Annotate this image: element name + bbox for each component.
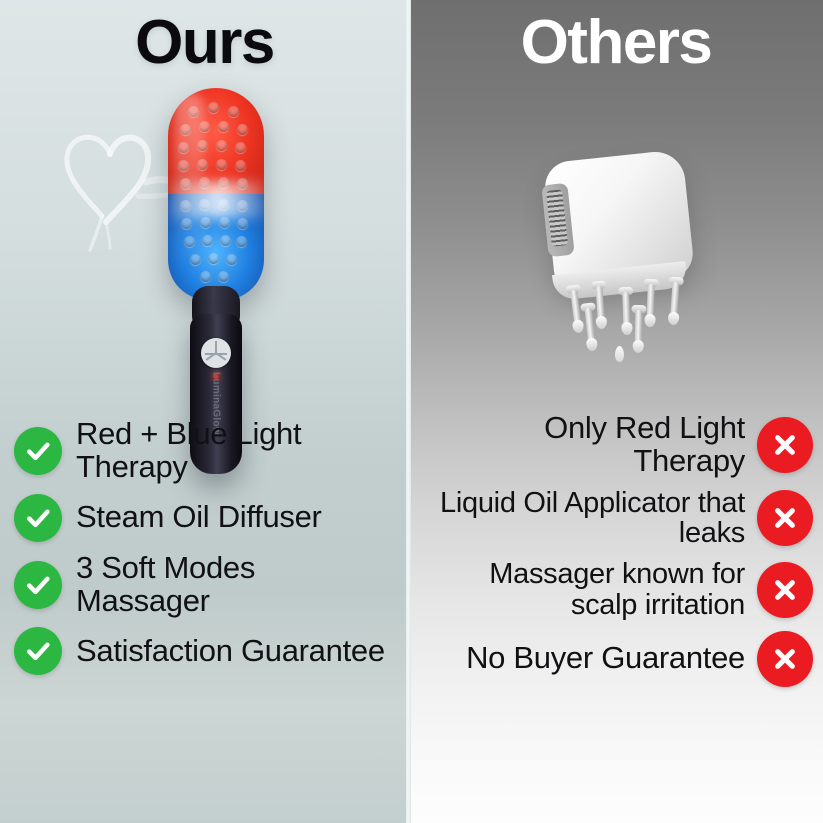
others-feature-label: Liquid Oil Applicator that leaks (427, 488, 745, 549)
cross-icon (757, 417, 813, 473)
ours-feature-label: Steam Oil Diffuser (76, 501, 322, 534)
head-gloss (174, 92, 204, 272)
others-feature-row: Massager known for scalp irritation (409, 559, 813, 620)
ours-heading: Ours (0, 12, 409, 74)
power-button-icon (201, 338, 231, 368)
others-feature-list: Only Red Light Therapy Liquid Oil Applic… (409, 412, 823, 697)
ours-feature-row: Red + Blue Light Therapy (14, 418, 409, 484)
check-icon (14, 561, 62, 609)
check-icon (14, 494, 62, 542)
liquid-drip-icon (615, 346, 624, 362)
ours-feature-label: Red + Blue Light Therapy (76, 418, 396, 484)
check-icon (14, 627, 62, 675)
comb-head (168, 88, 264, 300)
ours-feature-row: Steam Oil Diffuser (14, 494, 409, 542)
others-feature-label: No Buyer Guarantee (466, 642, 745, 675)
ours-product-image: LuminaGlow (152, 88, 278, 398)
ours-feature-row: Satisfaction Guarantee (14, 627, 409, 675)
metal-prong (633, 310, 645, 356)
others-feature-label: Massager known for scalp irritation (427, 559, 745, 620)
metal-prong (620, 292, 633, 338)
others-feature-row: Only Red Light Therapy (409, 412, 813, 478)
others-product-image (529, 150, 729, 365)
others-feature-row: No Buyer Guarantee (409, 631, 813, 687)
ours-feature-label: Satisfaction Guarantee (76, 635, 385, 668)
cross-icon (757, 631, 813, 687)
metal-prong (667, 282, 681, 329)
others-feature-label: Only Red Light Therapy (427, 412, 745, 478)
comparison-infographic: Ours (0, 0, 823, 823)
ours-feature-list: Red + Blue Light Therapy Steam Oil Diffu… (0, 418, 409, 685)
ours-feature-label: 3 Soft Modes Massager (76, 552, 396, 618)
cross-icon (757, 562, 813, 618)
check-icon (14, 427, 62, 475)
others-panel: Others (409, 0, 823, 823)
cross-icon (757, 490, 813, 546)
ours-panel: Ours (0, 0, 409, 823)
others-heading: Others (409, 12, 823, 74)
others-feature-row: Liquid Oil Applicator that leaks (409, 488, 813, 549)
panel-divider (406, 0, 411, 823)
ours-feature-row: 3 Soft Modes Massager (14, 552, 409, 618)
